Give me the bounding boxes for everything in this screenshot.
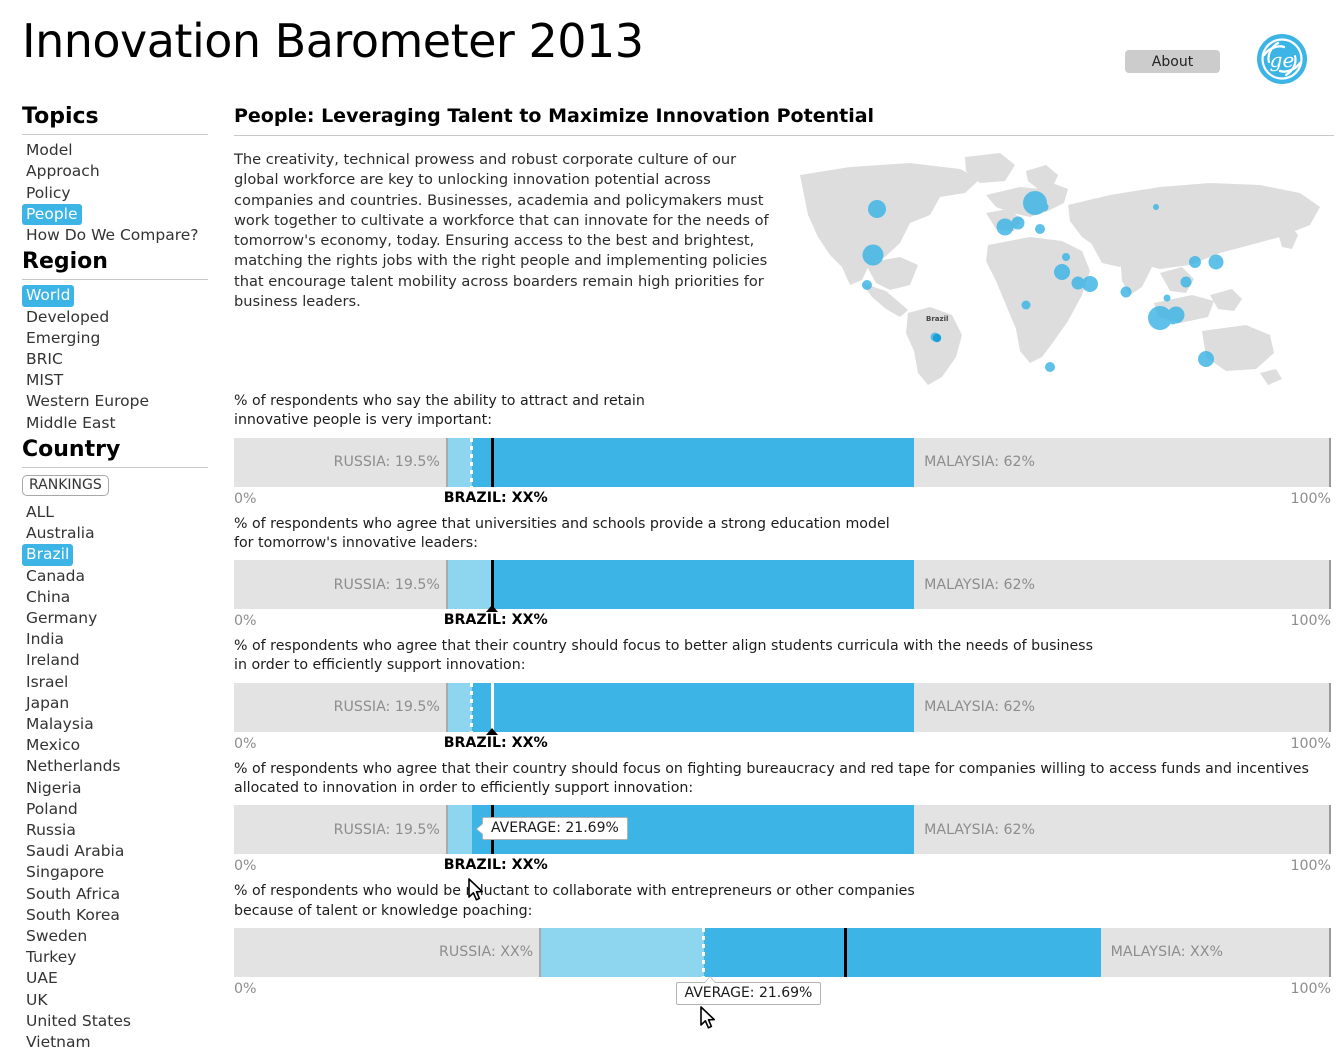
bar-high-label: MALAYSIA: 62%: [924, 454, 1035, 470]
bar-low-tick: [446, 438, 448, 487]
bar-axis: 0%100%BRAZIL: XX%: [234, 489, 1331, 515]
chart-question: % of respondents who say the ability to …: [234, 392, 1331, 431]
world-map-svg: [790, 145, 1341, 393]
bar-segment-main: [704, 928, 1101, 977]
sidebar-item-saudi-arabia[interactable]: Saudi Arabia: [22, 841, 128, 862]
bar-low-label: RUSSIA: XX%: [234, 944, 533, 960]
bar-end-tick: [1329, 438, 1331, 487]
sidebar-item-emerging[interactable]: Emerging: [22, 328, 104, 349]
bar-segment-light: [448, 683, 472, 732]
bar-low-tick: [446, 560, 448, 609]
axis-min-label: 0%: [234, 736, 257, 752]
sidebar-item-japan[interactable]: Japan: [22, 693, 73, 714]
sidebar-topics-list: ModelApproachPolicyPeopleHow Do We Compa…: [22, 140, 212, 246]
axis-max-label: 100%: [1290, 736, 1331, 752]
sidebar-country-list: ALLAustraliaBrazilCanadaChinaGermanyIndi…: [22, 502, 212, 1053]
sidebar-heading-topics: Topics: [22, 105, 212, 132]
axis-min-label: 0%: [234, 981, 257, 997]
bar-low-tick: [539, 928, 541, 977]
bar-track[interactable]: RUSSIA: XX%MALAYSIA: XX%: [234, 928, 1331, 977]
sidebar-item-mexico[interactable]: Mexico: [22, 735, 84, 756]
chart-block-1: % of respondents who say the ability to …: [234, 392, 1331, 515]
chart-block-4: % of respondents who agree that their co…: [234, 760, 1331, 883]
sidebar-item-united-states[interactable]: United States: [22, 1011, 135, 1032]
divider: [22, 279, 208, 280]
sidebar-item-singapore[interactable]: Singapore: [22, 862, 108, 883]
sidebar-heading-country: Country: [22, 438, 212, 465]
sidebar-item-developed[interactable]: Developed: [22, 307, 113, 328]
axis-max-label: 100%: [1290, 491, 1331, 507]
bar-axis: 0%100%AVERAGE: 21.69%: [234, 979, 1331, 1005]
tooltip-text: AVERAGE: 21.69%: [685, 985, 813, 1001]
bar-end-tick: [1329, 928, 1331, 977]
sidebar-item-bric[interactable]: BRIC: [22, 349, 67, 370]
sidebar-item-mist[interactable]: MIST: [22, 370, 67, 391]
sidebar-region-list: WorldDevelopedEmergingBRICMISTWestern Eu…: [22, 285, 212, 433]
bar-segment-light: [448, 805, 472, 854]
bar-axis: 0%100%BRAZIL: XX%: [234, 611, 1331, 637]
sidebar-item-approach[interactable]: Approach: [22, 161, 104, 182]
bar-segment-light: [448, 438, 472, 487]
bar-track[interactable]: RUSSIA: 19.5%MALAYSIA: 62%: [234, 438, 1331, 487]
average-marker[interactable]: [470, 438, 473, 487]
mouse-cursor-upper: [468, 878, 485, 903]
bar-segment-light: [541, 928, 703, 977]
app-root: Innovation Barometer 2013 About ge Topic…: [0, 0, 1341, 1064]
bar-low-tick: [446, 805, 448, 854]
sidebar-item-russia[interactable]: Russia: [22, 820, 80, 841]
sidebar-item-all[interactable]: ALL: [22, 502, 58, 523]
bar-track[interactable]: RUSSIA: 19.5%MALAYSIA: 62%AVERAGE: 21.69…: [234, 805, 1331, 854]
bar-low-tick: [446, 683, 448, 732]
country-marker-triangle: [486, 728, 498, 735]
bar-high-label: MALAYSIA: 62%: [924, 822, 1035, 838]
sidebar-item-south-africa[interactable]: South Africa: [22, 884, 124, 905]
average-tooltip: AVERAGE: 21.69%: [676, 982, 822, 1005]
sidebar-item-policy[interactable]: Policy: [22, 183, 75, 204]
intro-paragraph: The creativity, technical prowess and ro…: [234, 150, 770, 312]
axis-max-label: 100%: [1290, 981, 1331, 997]
country-marker[interactable]: [491, 560, 494, 609]
country-marker[interactable]: [844, 928, 847, 977]
charts-container: % of respondents who say the ability to …: [234, 392, 1331, 1005]
sidebar-item-malaysia[interactable]: Malaysia: [22, 714, 98, 735]
divider: [234, 135, 1334, 136]
map-label-brazil: Brazil: [926, 315, 948, 323]
about-button[interactable]: About: [1125, 50, 1220, 73]
bar-low-label: RUSSIA: 19.5%: [234, 577, 440, 593]
sidebar-item-world[interactable]: World: [22, 285, 74, 306]
bar-segment-main: [472, 683, 914, 732]
sidebar: Topics ModelApproachPolicyPeopleHow Do W…: [22, 105, 212, 1053]
chart-question: % of respondents who would be reluctant …: [234, 882, 1331, 921]
country-value-label: BRAZIL: XX%: [444, 612, 548, 628]
country-marker[interactable]: [491, 438, 494, 487]
bar-end-tick: [1329, 683, 1331, 732]
country-marker-triangle: [486, 605, 498, 612]
sidebar-item-vietnam[interactable]: Vietnam: [22, 1032, 95, 1053]
page-title: Innovation Barometer 2013: [22, 14, 644, 68]
bar-axis: 0%100%BRAZIL: XX%: [234, 856, 1331, 882]
sidebar-item-uae[interactable]: UAE: [22, 968, 62, 989]
sidebar-item-netherlands[interactable]: Netherlands: [22, 756, 124, 777]
chart-block-5: % of respondents who would be reluctant …: [234, 882, 1331, 1005]
axis-min-label: 0%: [234, 613, 257, 629]
country-value-label: BRAZIL: XX%: [444, 490, 548, 506]
sidebar-item-india[interactable]: India: [22, 629, 68, 650]
axis-min-label: 0%: [234, 491, 257, 507]
chart-question: % of respondents who agree that their co…: [234, 637, 1331, 676]
divider: [22, 134, 208, 135]
chart-question: % of respondents who agree that their co…: [234, 760, 1331, 799]
average-marker[interactable]: [470, 683, 473, 732]
section-title: People: Leveraging Talent to Maximize In…: [234, 105, 1334, 128]
sidebar-item-nigeria[interactable]: Nigeria: [22, 778, 85, 799]
average-marker[interactable]: [702, 928, 705, 977]
sidebar-item-australia[interactable]: Australia: [22, 523, 99, 544]
bar-high-label: MALAYSIA: XX%: [1111, 944, 1223, 960]
ge-logo: ge: [1256, 33, 1308, 85]
chart-block-3: % of respondents who agree that their co…: [234, 637, 1331, 760]
chart-block-2: % of respondents who agree that universi…: [234, 515, 1331, 638]
sidebar-item-brazil[interactable]: Brazil: [22, 544, 73, 565]
country-value-label: BRAZIL: XX%: [444, 735, 548, 751]
svg-text:ge: ge: [1270, 48, 1295, 72]
sidebar-heading-region: Region: [22, 250, 212, 277]
main-header: People: Leveraging Talent to Maximize In…: [234, 105, 1334, 136]
bar-low-label: RUSSIA: 19.5%: [234, 454, 440, 470]
sidebar-item-south-korea[interactable]: South Korea: [22, 905, 124, 926]
axis-max-label: 100%: [1290, 613, 1331, 629]
sidebar-item-middle-east[interactable]: Middle East: [22, 413, 120, 434]
sidebar-item-how-do-we-compare[interactable]: How Do We Compare?: [22, 225, 203, 246]
bar-low-label: RUSSIA: 19.5%: [234, 822, 440, 838]
bar-high-label: MALAYSIA: 62%: [924, 699, 1035, 715]
bar-segment-main: [472, 438, 914, 487]
bar-end-tick: [1329, 560, 1331, 609]
sidebar-item-china[interactable]: China: [22, 587, 74, 608]
sidebar-item-ireland[interactable]: Ireland: [22, 650, 84, 671]
sidebar-item-germany[interactable]: Germany: [22, 608, 101, 629]
rankings-button[interactable]: RANKINGS: [22, 475, 109, 496]
sidebar-item-people[interactable]: People: [22, 204, 82, 225]
sidebar-item-israel[interactable]: Israel: [22, 672, 72, 693]
sidebar-item-uk[interactable]: UK: [22, 990, 52, 1011]
bar-track[interactable]: RUSSIA: 19.5%MALAYSIA: 62%: [234, 560, 1331, 609]
bar-low-label: RUSSIA: 19.5%: [234, 699, 440, 715]
sidebar-item-canada[interactable]: Canada: [22, 566, 89, 587]
map-point-brazil: [933, 334, 941, 342]
bar-segment-main: [491, 560, 914, 609]
mouse-cursor-lower: [700, 1006, 717, 1031]
divider: [22, 467, 208, 468]
world-map[interactable]: Brazil: [790, 145, 1341, 393]
country-marker[interactable]: [491, 683, 494, 732]
bar-axis: 0%100%BRAZIL: XX%: [234, 734, 1331, 760]
bar-track[interactable]: RUSSIA: 19.5%MALAYSIA: 62%: [234, 683, 1331, 732]
sidebar-item-western-europe[interactable]: Western Europe: [22, 391, 153, 412]
sidebar-item-poland[interactable]: Poland: [22, 799, 82, 820]
sidebar-item-model[interactable]: Model: [22, 140, 77, 161]
average-tooltip: AVERAGE: 21.69%: [482, 817, 628, 840]
axis-max-label: 100%: [1290, 858, 1331, 874]
sidebar-item-sweden[interactable]: Sweden: [22, 926, 91, 947]
sidebar-item-turkey[interactable]: Turkey: [22, 947, 80, 968]
axis-min-label: 0%: [234, 858, 257, 874]
country-value-label: BRAZIL: XX%: [444, 857, 548, 873]
tooltip-text: AVERAGE: 21.69%: [491, 820, 619, 836]
bar-high-label: MALAYSIA: 62%: [924, 577, 1035, 593]
chart-question: % of respondents who agree that universi…: [234, 515, 1331, 554]
bar-end-tick: [1329, 805, 1331, 854]
bar-segment-light: [448, 560, 491, 609]
